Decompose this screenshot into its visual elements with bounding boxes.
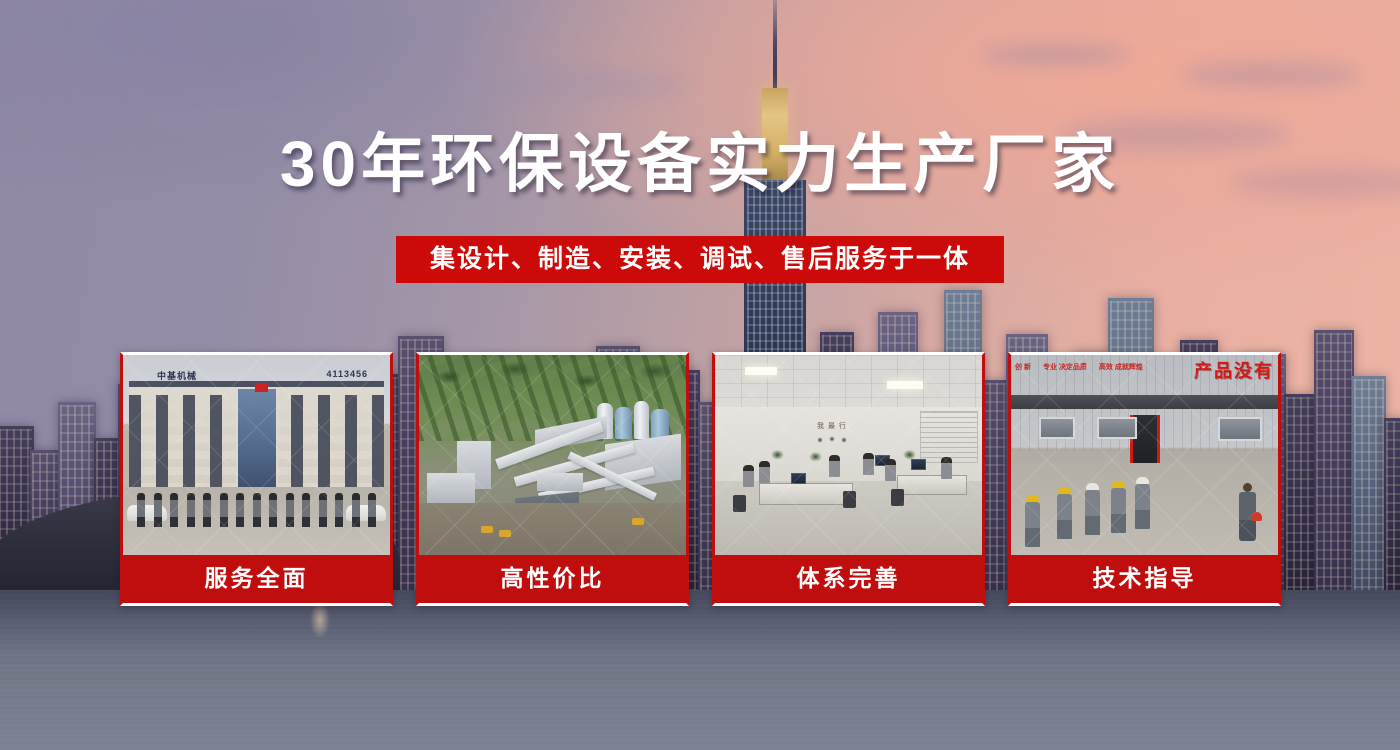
feature-card[interactable]: 中基机械 4113456 服务全面 [120,352,393,606]
card-photo-worker-training: 产品没有 创 新 专业 决定品质 高效 成就辉煌 [1011,355,1278,555]
feature-card-list: 中基机械 4113456 服务全面 [120,352,1281,606]
river-water [0,590,1400,750]
wall-decal: 我 最 行 [811,421,853,451]
factory-slogan: 创 新 [1015,363,1031,372]
cloud [980,44,1130,66]
subtitle-container: 集设计、制造、安装、调试、售后服务于一体 [0,236,1400,283]
feature-card[interactable]: 产品没有 创 新 专业 决定品质 高效 成就辉煌 [1008,352,1281,606]
staff-row [137,493,376,527]
card-caption: 技术指导 [1011,555,1278,603]
card-caption: 体系完善 [715,555,982,603]
factory-slogan: 高效 成就辉煌 [1099,363,1143,372]
hero-banner: 30年环保设备实力生产厂家 集设计、制造、安装、调试、售后服务于一体 中基机械 … [0,0,1400,750]
page-title: 30年环保设备实力生产厂家 [0,132,1400,196]
factory-slogan: 专业 决定品质 [1043,363,1087,372]
subtitle-banner: 集设计、制造、安装、调试、售后服务于一体 [396,236,1004,283]
factory-slogans: 创 新 专业 决定品质 高效 成就辉煌 [1015,363,1143,372]
tower-spire [773,0,777,88]
building-sign-text: 中基机械 [157,369,197,382]
feature-card[interactable]: 我 最 行 [712,352,985,606]
card-caption: 高性价比 [419,555,686,603]
cloud [120,104,360,130]
card-photo-headquarters: 中基机械 4113456 [123,355,390,555]
cloud [430,70,690,100]
cloud [1180,62,1360,88]
card-photo-office-interior: 我 最 行 [715,355,982,555]
red-helmet [1251,512,1262,521]
wall-decal-text: 我 最 行 [811,421,853,431]
factory-sign-text: 产品没有 [1194,357,1274,383]
building-phone-text: 4113456 [326,369,368,379]
card-photo-plant-aerial [419,355,686,555]
feature-card[interactable]: 高性价比 [416,352,689,606]
card-caption: 服务全面 [123,555,390,603]
window-blinds [920,411,978,463]
